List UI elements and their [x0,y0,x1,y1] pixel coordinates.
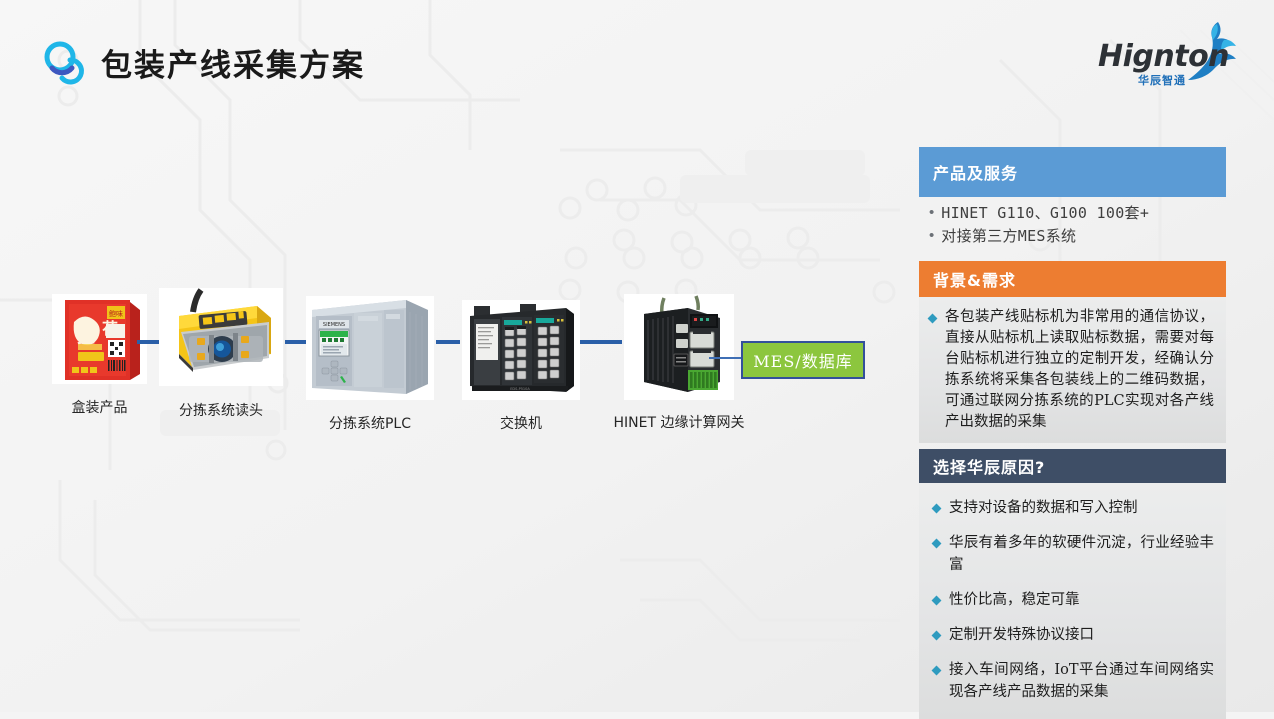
page-title: 包装产线采集方案 [101,40,365,85]
connector-line [580,340,622,344]
list-item: 性价比高，稳定可靠 [933,589,1214,611]
logo-wordmark: Hignton [1098,42,1229,72]
diagram-node-sorting-reader: 分拣系统读头 [159,288,283,386]
connector-line [285,340,307,344]
diagram-node-label: HINET 边缘计算网关 [614,412,745,432]
diagram-node-label: 分拣系统读头 [179,400,263,420]
svg-text:鲍味: 鲍味 [109,309,123,318]
diagram-node-boxed-product: 鲍味 鲜 花 [52,294,147,384]
section-reasons-to-choose: 选择华辰原因? 支持对设备的数据和写入控制 华辰有着多年的软硬件沉淀，行业经验丰… [919,449,1226,719]
info-panel: 产品及服务 • HINET G110、G100 100套+ • 对接第三方MES… [919,147,1226,719]
list-item: • HINET G110、G100 100套+ [929,203,1226,224]
yellow-barcode-scanner-image [159,288,283,386]
list-item-text: 各包装产线贴标机为非常用的通信协议，直接从贴标机上读取贴标数据，需要对每台贴标机… [945,307,1214,433]
connector-line-to-mes [709,357,743,359]
list-item: 支持对设备的数据和写入控制 [933,497,1214,519]
list-item-text: 定制开发特殊协议接口 [949,624,1094,646]
mes-database-label: MES/数据库 [753,348,852,372]
mes-database-endpoint: MES/数据库 [741,341,865,379]
section-header: 背景&需求 [919,261,1226,297]
section-title: 产品及服务 [933,160,1018,184]
interlocking-circles-icon [36,38,88,90]
list-item: 华辰有着多年的软硬件沉淀，行业经验丰富 [933,532,1214,576]
list-item-text: 华辰有着多年的软硬件沉淀，行业经验丰富 [949,532,1214,576]
company-logo: Hignton 华辰智通 [1098,22,1238,94]
section-header: 产品及服务 [919,147,1226,197]
svg-text:EDS-P510A: EDS-P510A [510,387,530,391]
list-item: 各包装产线贴标机为非常用的通信协议，直接从贴标机上读取贴标数据，需要对每台贴标机… [929,307,1214,433]
diagram-node-label: 交换机 [500,413,542,433]
list-item-text: 支持对设备的数据和写入控制 [949,497,1138,519]
list-item-text: 性价比高，稳定可靠 [949,589,1080,611]
section-title: 背景&需求 [933,267,1016,291]
section-products-and-services: 产品及服务 • HINET G110、G100 100套+ • 对接第三方MES… [919,147,1226,255]
connector-line [137,340,161,344]
section-background-and-requirements: 背景&需求 各包装产线贴标机为非常用的通信协议，直接从贴标机上读取贴标数据，需要… [919,261,1226,443]
section-body: 支持对设备的数据和写入控制 华辰有着多年的软硬件沉淀，行业经验丰富 性价比高，稳… [919,483,1226,719]
bullet-dot-icon: • [929,203,934,223]
diagram-node-switch: EDS-P510A 交换机 [462,300,580,400]
diagram-node-label: 盒装产品 [72,397,128,417]
bullet-diamond-icon [932,666,942,676]
svg-text:SIEMENS: SIEMENS [323,322,345,328]
bullet-diamond-icon [932,504,942,514]
section-body: 各包装产线贴标机为非常用的通信协议，直接从贴标机上读取贴标数据，需要对每台贴标机… [919,297,1226,443]
list-item: 定制开发特殊协议接口 [933,624,1214,646]
list-item-text: 对接第三方MES系统 [941,226,1076,247]
black-ethernet-switch-image: EDS-P510A [462,300,580,400]
list-item: 接入车间网络，IoT平台通过车间网络实现各产线产品数据的采集 [933,659,1214,703]
list-item-text: HINET G110、G100 100套+ [941,203,1149,224]
bullet-diamond-icon [928,314,938,324]
connector-line [436,340,460,344]
bullet-dot-icon: • [929,226,934,246]
list-item-text: 接入车间网络，IoT平台通过车间网络实现各产线产品数据的采集 [949,659,1214,703]
logo-subtext: 华辰智通 [1138,72,1186,88]
section-title: 选择华辰原因? [933,454,1045,478]
list-item: • 对接第三方MES系统 [929,226,1226,247]
siemens-gray-plc-image: SIEMENS [306,296,434,400]
black-edge-gateway-image [624,294,734,400]
section-header: 选择华辰原因? [919,449,1226,483]
red-packaged-food-box-image: 鲍味 鲜 花 [52,294,147,384]
bullet-diamond-icon [932,631,942,641]
bullet-diamond-icon [932,596,942,606]
diagram-node-sorting-plc: SIEMENS [306,296,434,400]
section-body: • HINET G110、G100 100套+ • 对接第三方MES系统 [919,197,1226,255]
bullet-diamond-icon [932,539,942,549]
diagram-node-label: 分拣系统PLC [329,413,411,433]
page-header: 包装产线采集方案 Hignton 华辰智通 [0,0,1274,118]
diagram-node-hinet-gateway: HINET 边缘计算网关 [624,294,734,400]
